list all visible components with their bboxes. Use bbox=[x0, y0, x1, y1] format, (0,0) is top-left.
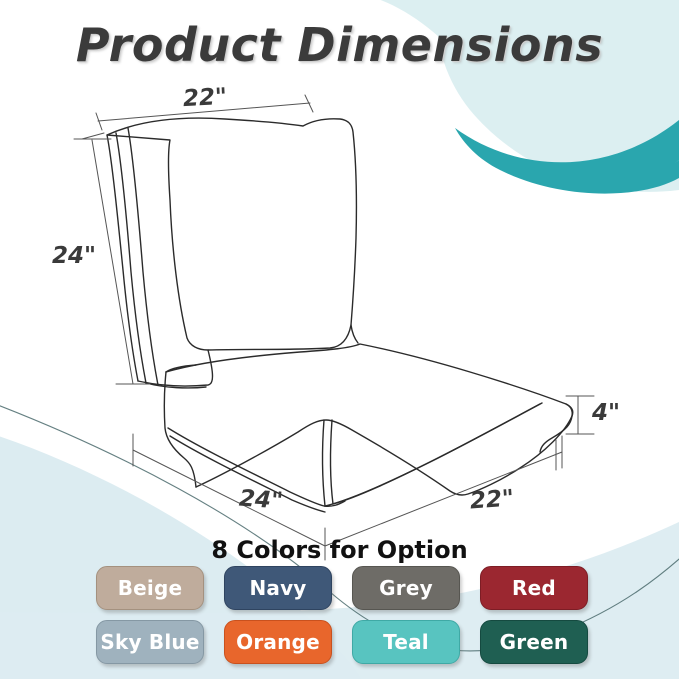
color-swatch-navy[interactable]: Navy bbox=[224, 566, 332, 610]
color-swatch-orange[interactable]: Orange bbox=[224, 620, 332, 664]
seat-right-side-lower bbox=[566, 404, 572, 416]
page-title: Product Dimensions bbox=[0, 18, 679, 72]
back-cushion-right-lower bbox=[351, 325, 358, 343]
color-swatch-label: Teal bbox=[383, 630, 429, 654]
dim-tick-back-width-left bbox=[96, 113, 102, 130]
dimension-label-seat-depth: 24" bbox=[238, 485, 284, 514]
dim-line-seat-width bbox=[325, 452, 562, 546]
dimension-label-seat-thickness: 4" bbox=[592, 400, 620, 426]
seat-front-corner-seam2 bbox=[331, 420, 333, 504]
dim-ext-back-height-top bbox=[82, 133, 104, 139]
color-swatch-label: Beige bbox=[118, 576, 183, 600]
color-swatch-beige[interactable]: Beige bbox=[96, 566, 204, 610]
seat-front-corner-seam bbox=[323, 420, 325, 506]
dimension-label-back-width: 22" bbox=[182, 84, 227, 112]
color-swatch-label: Sky Blue bbox=[100, 630, 199, 654]
color-swatch-label: Green bbox=[500, 630, 569, 654]
color-swatch-red[interactable]: Red bbox=[480, 566, 588, 610]
colors-heading: 8 Colors for Option bbox=[0, 536, 679, 564]
dimension-label-back-height: 24" bbox=[52, 243, 96, 269]
dim-line-seat-depth bbox=[133, 450, 325, 546]
color-swatch-grey[interactable]: Grey bbox=[352, 566, 460, 610]
color-swatch-label: Orange bbox=[236, 630, 320, 654]
color-swatch-sky-blue[interactable]: Sky Blue bbox=[96, 620, 204, 664]
color-swatch-teal[interactable]: Teal bbox=[352, 620, 460, 664]
infographic-canvas: Product Dimensions bbox=[0, 0, 679, 679]
back-cushion-face bbox=[107, 118, 356, 350]
color-swatch-label: Navy bbox=[249, 576, 306, 600]
color-swatch-green[interactable]: Green bbox=[480, 620, 588, 664]
dimension-label-seat-width: 22" bbox=[469, 485, 515, 514]
color-options-grid: Beige Navy Grey Red Sky Blue Orange Teal… bbox=[96, 566, 588, 664]
color-swatch-label: Grey bbox=[379, 576, 433, 600]
color-swatch-label: Red bbox=[512, 576, 556, 600]
